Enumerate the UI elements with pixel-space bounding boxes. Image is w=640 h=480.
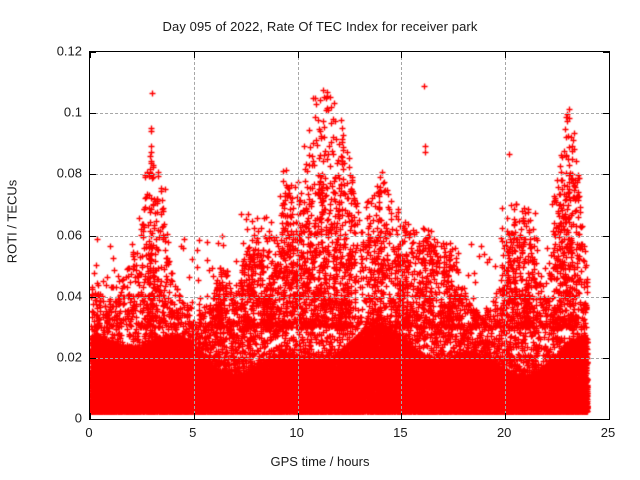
x-tick-mark xyxy=(90,413,91,419)
y-tick-mark-right xyxy=(603,419,609,420)
x-tick-label: 10 xyxy=(289,425,303,440)
x-tick-mark xyxy=(401,413,402,419)
chart-title: Day 095 of 2022, Rate Of TEC Index for r… xyxy=(0,19,640,34)
y-tick-label: 0.06 xyxy=(57,227,82,242)
y-tick-label: 0.02 xyxy=(57,349,82,364)
y-tick-label: 0.1 xyxy=(64,105,82,120)
x-tick-mark xyxy=(194,413,195,419)
x-tick-label: 25 xyxy=(601,425,615,440)
y-axis-label: ROTI / TECUs xyxy=(5,132,20,312)
x-tick-mark xyxy=(505,413,506,419)
x-tick-mark-top xyxy=(505,52,506,58)
y-tick-mark xyxy=(90,297,96,298)
x-axis-tick-labels: 0510152025 xyxy=(89,425,608,445)
x-tick-mark xyxy=(298,413,299,419)
y-tick-mark xyxy=(90,236,96,237)
y-tick-label: 0.08 xyxy=(57,166,82,181)
plot-area xyxy=(89,51,610,420)
x-tick-mark-top xyxy=(194,52,195,58)
y-tick-mark xyxy=(90,358,96,359)
y-tick-mark-right xyxy=(603,236,609,237)
y-tick-label: 0.12 xyxy=(57,44,82,59)
y-tick-mark-right xyxy=(603,174,609,175)
x-tick-mark-top xyxy=(298,52,299,58)
y-tick-mark-right xyxy=(603,358,609,359)
roti-scatter-chart: Day 095 of 2022, Rate Of TEC Index for r… xyxy=(0,0,640,480)
x-tick-mark-top xyxy=(401,52,402,58)
x-tick-mark xyxy=(609,413,610,419)
x-tick-mark-top xyxy=(90,52,91,58)
x-tick-label: 20 xyxy=(497,425,511,440)
y-tick-mark-right xyxy=(603,297,609,298)
x-axis-label: GPS time / hours xyxy=(0,454,640,469)
x-tick-mark-top xyxy=(609,52,610,58)
y-tick-label: 0 xyxy=(75,411,82,426)
y-tick-mark-right xyxy=(603,113,609,114)
scatter-plot-canvas xyxy=(90,52,609,419)
y-tick-label: 0.04 xyxy=(57,288,82,303)
y-tick-mark xyxy=(90,113,96,114)
x-tick-label: 5 xyxy=(189,425,196,440)
y-tick-mark xyxy=(90,174,96,175)
y-tick-mark xyxy=(90,419,96,420)
x-tick-label: 15 xyxy=(393,425,407,440)
x-tick-label: 0 xyxy=(85,425,92,440)
